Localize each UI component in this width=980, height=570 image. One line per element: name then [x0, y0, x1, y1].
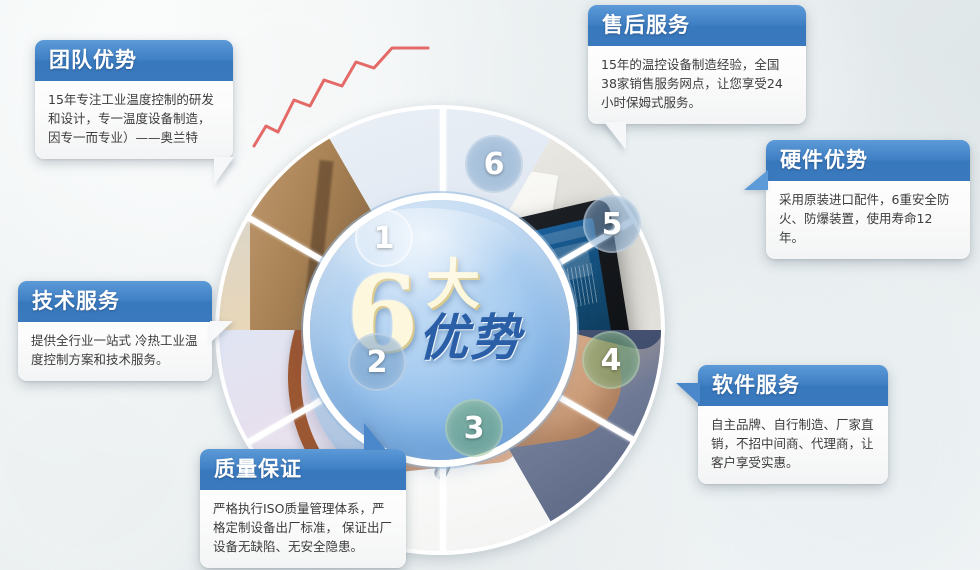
- callout-tail: [210, 321, 233, 343]
- segment-number-2[interactable]: 2: [348, 333, 406, 391]
- callout-body: 严格执行ISO质量管理体系，严格定制设备出厂标准， 保证出厂设备无缺陷、无安全隐…: [200, 490, 406, 568]
- callout-team-advantage[interactable]: 团队优势 15年专注工业温度控制的研发和设计，专一温度设备制造，因专一而专业）—…: [35, 40, 233, 159]
- callout-title: 团队优势: [35, 40, 233, 81]
- logo-youshi-text: 优势: [418, 312, 522, 364]
- infographic-canvas: STOCK MARKET DATA INTC 440.96: [0, 0, 980, 570]
- logo-da-char: 大: [426, 258, 480, 312]
- callout-title: 质量保证: [200, 449, 406, 490]
- callout-quality-assurance[interactable]: 质量保证 严格执行ISO质量管理体系，严格定制设备出厂标准， 保证出厂设备无缺陷…: [200, 449, 406, 568]
- callout-tail: [604, 122, 626, 150]
- callout-title: 售后服务: [588, 5, 806, 46]
- callout-body: 提供全行业一站式 冷热工业温度控制方案和技术服务。: [18, 322, 212, 381]
- callout-title: 硬件优势: [766, 140, 970, 181]
- callout-tail: [744, 170, 768, 190]
- segment-number-5[interactable]: 5: [583, 195, 641, 253]
- callout-after-sales-service[interactable]: 售后服务 15年的温控设备制造经验，全国38家销售服务网点，让您享受24小时保姆…: [588, 5, 806, 124]
- callout-hardware-advantage[interactable]: 硬件优势 采用原装进口配件，6重安全防火、防爆装置，使用寿命12年。: [766, 140, 970, 259]
- callout-software-service[interactable]: 软件服务 自主品牌、自行制造、厂家直销，不招中间商、代理商，让客户享受实惠。: [698, 365, 888, 484]
- segment-number-4[interactable]: 4: [582, 331, 640, 389]
- segment-number-3[interactable]: 3: [445, 399, 503, 457]
- segment-number-6[interactable]: 6: [465, 135, 523, 193]
- callout-body: 采用原装进口配件，6重安全防火、防爆装置，使用寿命12年。: [766, 181, 970, 259]
- callout-body: 15年的温控设备制造经验，全国38家销售服务网点，让您享受24小时保姆式服务。: [588, 46, 806, 124]
- callout-tail: [214, 157, 234, 185]
- callout-title: 软件服务: [698, 365, 888, 406]
- callout-body: 自主品牌、自行制造、厂家直销，不招中间商、代理商，让客户享受实惠。: [698, 406, 888, 484]
- callout-tail: [676, 383, 700, 405]
- callout-body: 15年专注工业温度控制的研发和设计，专一温度设备制造，因专一而专业）——奥兰特: [35, 81, 233, 159]
- callout-title: 技术服务: [18, 281, 212, 322]
- callout-technical-service[interactable]: 技术服务 提供全行业一站式 冷热工业温度控制方案和技术服务。: [18, 281, 212, 381]
- red-trend-line: [250, 40, 430, 150]
- center-circle: 6 大 优势: [310, 200, 570, 460]
- segment-number-1[interactable]: 1: [355, 209, 413, 267]
- callout-tail: [364, 423, 386, 450]
